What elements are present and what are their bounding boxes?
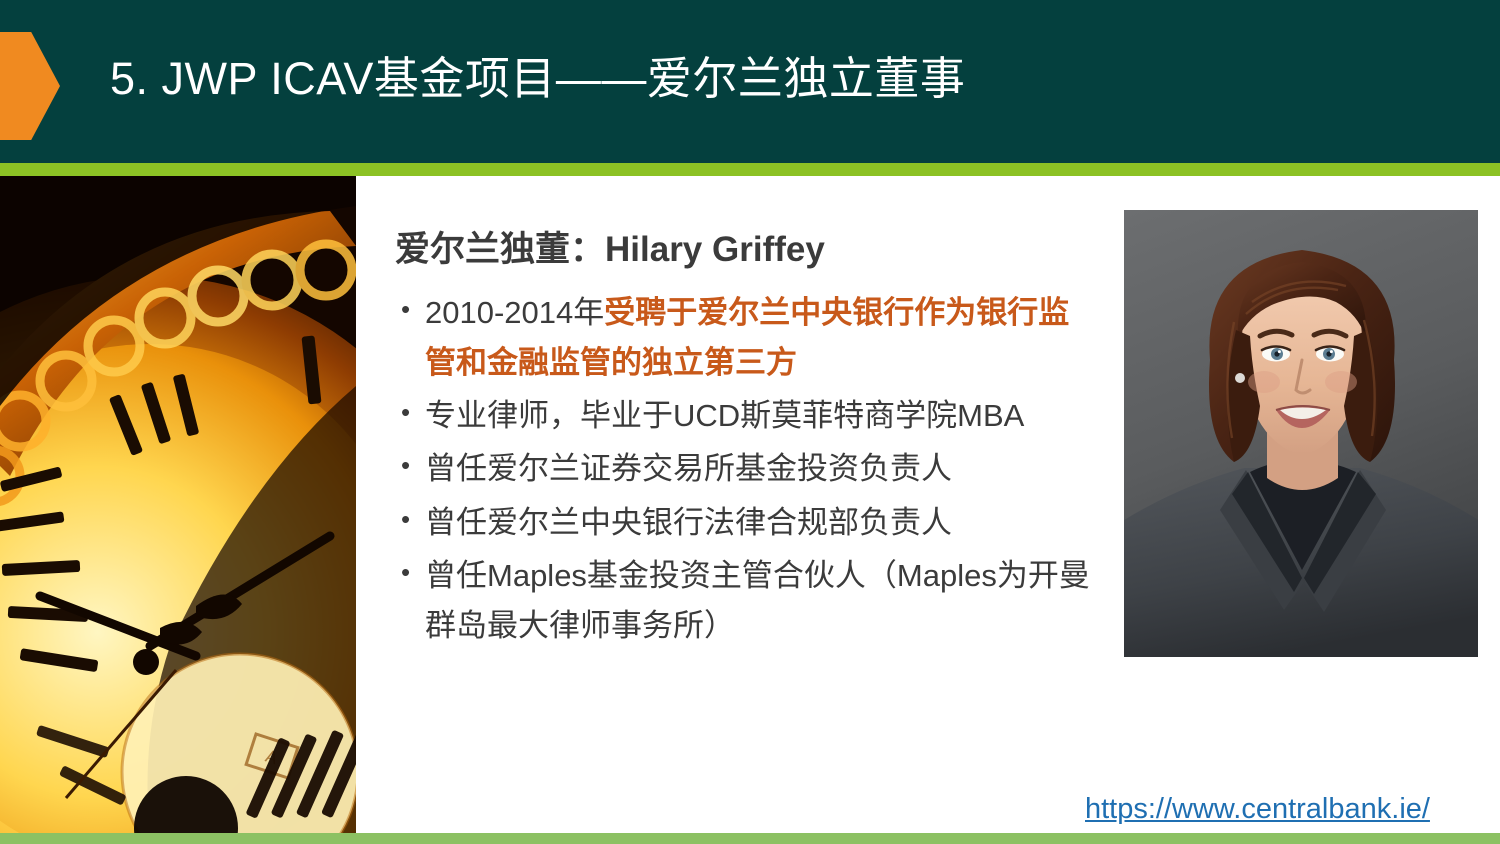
content-area: 爱尔兰独董：Hilary Griffey 2010-2014年受聘于爱尔兰中央银… bbox=[395, 228, 1095, 654]
header-accent-bar bbox=[0, 163, 1500, 176]
bullet-text-plain: 曾任Maples基金投资主管合伙人（Maples为开曼群岛最大律师事务所） bbox=[425, 558, 1090, 643]
bullet-text-plain: 曾任爱尔兰证券交易所基金投资负责人 bbox=[425, 451, 952, 486]
centralbank-link[interactable]: https://www.centralbank.ie/ bbox=[1085, 793, 1430, 826]
list-item: 专业律师，毕业于UCD斯莫菲特商学院MBA bbox=[395, 391, 1095, 441]
bullet-text-plain: 2010-2014年 bbox=[425, 295, 604, 330]
list-item: 曾任爱尔兰中央银行法律合规部负责人 bbox=[395, 498, 1095, 548]
person-heading: 爱尔兰独董：Hilary Griffey bbox=[395, 228, 1095, 272]
portrait-photo bbox=[1124, 210, 1478, 657]
list-item: 2010-2014年受聘于爱尔兰中央银行作为银行监管和金融监管的独立第三方 bbox=[395, 288, 1095, 388]
bullet-text-plain: 专业律师，毕业于UCD斯莫菲特商学院MBA bbox=[425, 398, 1024, 433]
bullet-text-plain: 曾任爱尔兰中央银行法律合规部负责人 bbox=[425, 505, 952, 540]
bullet-list: 2010-2014年受聘于爱尔兰中央银行作为银行监管和金融监管的独立第三方 专业… bbox=[395, 288, 1095, 652]
list-item: 曾任Maples基金投资主管合伙人（Maples为开曼群岛最大律师事务所） bbox=[395, 551, 1095, 651]
footer-accent-bar bbox=[0, 833, 1500, 844]
slide: 5. JWP ICAV基金项目——爱尔兰独立董事 bbox=[0, 0, 1500, 844]
list-item: 曾任爱尔兰证券交易所基金投资负责人 bbox=[395, 444, 1095, 494]
clock-photo: A bbox=[0, 176, 356, 833]
page-title: 5. JWP ICAV基金项目——爱尔兰独立董事 bbox=[110, 42, 1310, 107]
